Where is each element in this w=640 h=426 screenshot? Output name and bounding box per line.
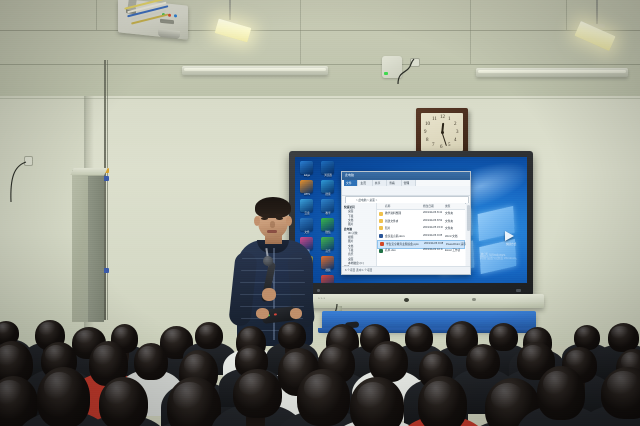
desktop-icon-label: 教学	[317, 213, 339, 216]
search-icon-glyph	[321, 180, 334, 193]
status-text: 6 个项目 选中 1 个项目	[345, 268, 372, 272]
file-modified: 2019/11/25 15:03	[423, 226, 443, 229]
file-modified: 2019/11/26 9:05	[423, 234, 442, 237]
hair-highlight	[173, 382, 205, 412]
desktop-icon-label: Edge	[296, 175, 318, 178]
ceiling-seam	[0, 64, 640, 65]
browser-icon-glyph	[321, 161, 334, 174]
presenter-nose	[270, 221, 275, 228]
clock-numeral: 6	[440, 145, 443, 150]
music-icon[interactable]: 音乐	[321, 237, 334, 256]
ir-sensor	[516, 289, 521, 292]
ribbon-tab-label: 查看	[389, 181, 395, 185]
file-modified: 2019/11/26 8:52	[423, 219, 442, 222]
clock-numeral: 3	[456, 130, 459, 135]
desktop-icon-label: 浏览器	[317, 175, 339, 178]
clock-face: 12 1 2 3 4 5 6 7 8 9 10 11	[421, 113, 463, 151]
hair-highlight	[357, 382, 390, 411]
wall-cable-conduit-shadow	[107, 60, 108, 320]
interactive-flat-panel[interactable]: Edge浏览器WPS搜索云盘教学文件微信相册音乐笔记视频星标Chrome 此电脑…	[289, 151, 533, 296]
file-modified: 2019/11/26 9:08	[424, 242, 443, 245]
file-name: 名单.xlsx	[385, 248, 396, 252]
door-header	[70, 168, 107, 175]
column-header-type[interactable]: 类型	[445, 204, 450, 208]
presenter-eye	[261, 217, 268, 220]
file-type: Word 文档	[445, 234, 458, 238]
ribbon-tab-label: 管理	[404, 181, 410, 185]
hair-highlight	[491, 383, 524, 412]
file-row[interactable]: 会议发言稿.docx2019/11/26 9:05Word 文档	[377, 232, 465, 239]
clock-numeral: 5	[448, 143, 451, 148]
music-icon-glyph	[321, 237, 334, 250]
clock-numeral: 2	[454, 122, 457, 127]
file-row[interactable]: 照片2019/11/25 15:03文件夹	[377, 225, 465, 232]
desktop-icon-label: 音乐	[317, 251, 339, 254]
file-name: 教学资料整理	[385, 211, 401, 215]
presenter-mouth	[267, 230, 277, 233]
file-row[interactable]: 名单.xlsx2019/11/22 10:17Excel 工作表	[377, 247, 465, 254]
window-title: 此电脑	[345, 173, 354, 177]
wall-tube-light-right	[476, 68, 628, 77]
address-text: > 此电脑 > 桌面 >	[356, 198, 377, 202]
media-shortcut-icon[interactable]: 快捷方式	[504, 229, 518, 247]
chat-icon[interactable]: 微信	[321, 218, 334, 237]
clock-numeral: 4	[454, 138, 457, 143]
edge-icon-glyph	[300, 161, 313, 174]
ceiling-seam	[300, 0, 301, 64]
classroom-photo: 12 1 2 3 4 5 6 7 8 9 10 11	[0, 0, 640, 426]
file-type-icon	[379, 234, 383, 238]
wall-seam	[0, 98, 640, 99]
status-bar: 6 个项目 选中 1 个项目	[342, 266, 470, 274]
ceiling-seam	[470, 0, 471, 64]
file-type-icon	[379, 212, 383, 216]
wall-clock: 12 1 2 3 4 5 6 7 8 9 10 11	[416, 108, 468, 156]
clock-numeral: 7	[432, 143, 435, 148]
ribbon-tab-label: 文件	[346, 181, 352, 185]
clock-numeral: 8	[426, 138, 429, 143]
desktop-icon-label: 视频	[317, 270, 339, 273]
window-titlebar[interactable]: 此电脑	[342, 172, 470, 180]
file-type-icon	[379, 219, 383, 223]
edge-icon[interactable]: Edge	[300, 161, 313, 180]
chrome-icon-glyph	[321, 275, 334, 283]
ribbon-tab-label: 主页	[360, 181, 366, 185]
file-modified: 2019/11/22 10:17	[423, 248, 443, 251]
hair-highlight	[607, 371, 640, 397]
ceiling-seam	[566, 0, 567, 30]
device-cable	[396, 58, 422, 88]
clock-numeral: 1	[448, 117, 451, 122]
file-type-icon	[379, 249, 383, 253]
presenter-ear	[254, 216, 260, 226]
pendant-rod	[229, 0, 231, 22]
ceiling-seam	[0, 30, 640, 31]
presenter-eye	[276, 217, 283, 220]
file-type: PowerPoint 演示	[446, 242, 466, 246]
desktop-icon-label: 微信	[317, 232, 339, 235]
pendant-rod	[596, 0, 598, 26]
file-type: 文件夹	[445, 226, 453, 230]
teaching-icon[interactable]: 教学	[321, 199, 334, 218]
hair-highlight	[424, 381, 454, 409]
file-name: 会议发言稿.docx	[385, 234, 405, 238]
vertical-scrollbar[interactable]	[466, 203, 470, 267]
ribbon-tab-label: 共享	[375, 181, 381, 185]
shortcut-label: 快捷方式	[501, 242, 521, 246]
column-header-name[interactable]: 名称	[385, 204, 390, 208]
wall-cable	[6, 160, 30, 204]
clock-numeral: 10	[425, 122, 430, 127]
presenter-ear	[286, 216, 292, 226]
file-row[interactable]: 新建文件夹2019/11/26 8:52文件夹	[377, 217, 465, 224]
column-headers[interactable]: 名称 修改日期 类型	[377, 203, 465, 210]
file-explorer-window[interactable]: 此电脑 文件主页共享查看管理 > 此电脑 > 桌面 > 快速访问桌面下载文档图片…	[341, 171, 471, 275]
chat-icon-glyph	[321, 218, 334, 231]
scrollbar-thumb[interactable]	[467, 205, 470, 231]
file-name: 新建文件夹	[385, 219, 398, 223]
chrome-icon[interactable]: Chrome	[321, 275, 334, 283]
nav-item[interactable]: 本地磁盘 (C:)	[348, 261, 364, 265]
play-triangle-icon	[505, 231, 514, 241]
file-type: Excel 工作表	[445, 248, 460, 252]
video-icon-glyph	[321, 256, 334, 269]
file-list[interactable]: 名称 修改日期 类型 教学资料整理2019/11/26 8:41文件夹新建文件夹…	[377, 203, 465, 267]
clock-numeral: 12	[440, 115, 445, 120]
file-type: 文件夹	[445, 211, 453, 215]
watermark-line2: 转到“设置”以激活 Windows。	[480, 257, 519, 261]
wall-cable-conduit	[104, 60, 106, 320]
teaching-icon-glyph	[321, 199, 334, 212]
search-icon[interactable]: 搜索	[321, 180, 334, 199]
clock-numeral: 9	[424, 130, 427, 135]
file-name: 学生安全教育主题班会.pptx	[386, 242, 419, 246]
hair-highlight	[239, 373, 268, 397]
file-row[interactable]: 教学资料整理2019/11/26 8:41文件夹	[377, 210, 465, 217]
browser-icon[interactable]: 浏览器	[321, 161, 334, 180]
ribbon-bar[interactable]	[342, 186, 470, 196]
video-icon[interactable]: 视频	[321, 256, 334, 275]
clock-center-pin	[441, 131, 444, 134]
file-modified: 2019/11/26 8:41	[423, 211, 442, 214]
audience-row-front	[0, 300, 640, 426]
navigation-pane[interactable]: 快速访问桌面下载文档图片此电脑3D 对象视频图片文档下载音乐桌面本地磁盘 (C:…	[342, 203, 377, 267]
file-type-icon	[380, 242, 384, 246]
desktop-icon-label: 搜索	[317, 194, 339, 197]
display-screen[interactable]: Edge浏览器WPS搜索云盘教学文件微信相册音乐笔记视频星标Chrome 此电脑…	[295, 157, 527, 283]
file-type-icon	[379, 226, 383, 230]
clock-numeral: 11	[432, 117, 437, 122]
activation-watermark: 激活 Windows 转到“设置”以激活 Windows。	[480, 252, 519, 261]
office-icon-glyph	[300, 180, 313, 193]
ceiling-seam	[96, 0, 97, 30]
file-type: 文件夹	[445, 219, 453, 223]
file-name: 照片	[385, 226, 390, 230]
wall-tube-light-left	[182, 66, 328, 75]
column-header-modified[interactable]: 修改日期	[423, 204, 434, 208]
